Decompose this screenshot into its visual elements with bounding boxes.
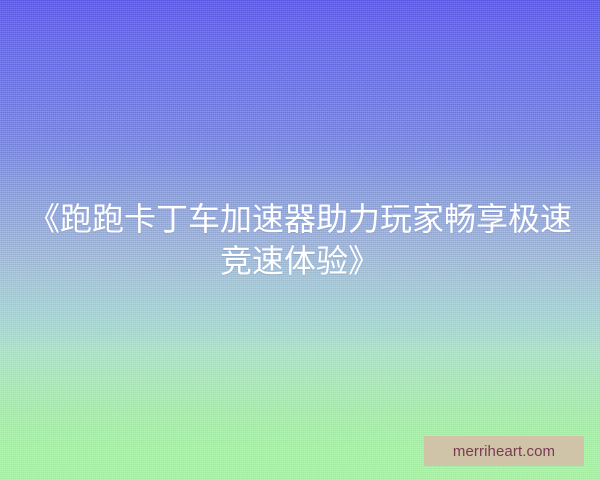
banner-image: 《跑跑卡丁车加速器助力玩家畅享极速竞速体验》 merriheart.com [0, 0, 600, 480]
title-block: 《跑跑卡丁车加速器助力玩家畅享极速竞速体验》 [0, 198, 600, 282]
banner-title: 《跑跑卡丁车加速器助力玩家畅享极速竞速体验》 [26, 198, 574, 282]
watermark-badge: merriheart.com [424, 436, 584, 466]
watermark-label: merriheart.com [453, 444, 555, 459]
